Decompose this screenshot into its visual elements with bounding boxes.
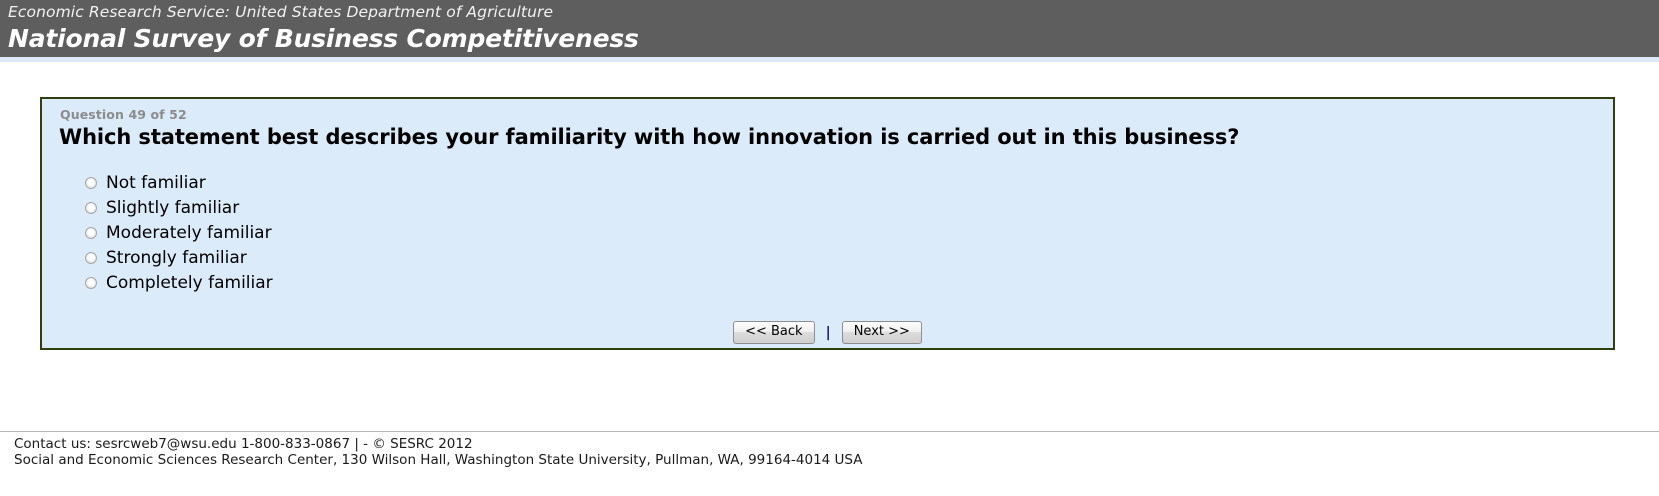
question-panel: Question 49 of 52 Which statement best d… — [40, 97, 1615, 350]
site-header: Economic Research Service: United States… — [0, 0, 1659, 57]
radio-button-icon[interactable] — [85, 252, 97, 264]
page-footer: Contact us: sesrcweb7@wsu.edu 1-800-833-… — [14, 436, 1614, 468]
answer-option-not-familiar[interactable]: Not familiar — [85, 170, 273, 195]
next-button[interactable]: Next >> — [842, 321, 922, 344]
agency-subtitle: Economic Research Service: United States… — [8, 2, 1659, 22]
question-progress-label: Question 49 of 52 — [60, 107, 187, 122]
answer-options-list: Not familiar Slightly familiar Moderatel… — [85, 170, 273, 295]
answer-option-completely-familiar[interactable]: Completely familiar — [85, 270, 273, 295]
answer-option-label: Completely familiar — [106, 273, 273, 293]
nav-separator: | — [826, 326, 831, 340]
answer-option-label: Strongly familiar — [106, 248, 247, 268]
answer-option-moderately-familiar[interactable]: Moderately familiar — [85, 220, 273, 245]
answer-option-label: Not familiar — [106, 173, 206, 193]
back-button[interactable]: << Back — [733, 321, 814, 344]
footer-divider — [0, 431, 1659, 432]
header-accent-strip — [0, 57, 1659, 62]
radio-button-icon[interactable] — [85, 227, 97, 239]
footer-contact-line: Contact us: sesrcweb7@wsu.edu 1-800-833-… — [14, 436, 1614, 452]
radio-button-icon[interactable] — [85, 177, 97, 189]
navigation-bar: << Back | Next >> — [42, 321, 1613, 344]
answer-option-strongly-familiar[interactable]: Strongly familiar — [85, 245, 273, 270]
radio-button-icon[interactable] — [85, 202, 97, 214]
radio-button-icon[interactable] — [85, 277, 97, 289]
survey-title: National Survey of Business Competitiven… — [8, 23, 1659, 55]
answer-option-slightly-familiar[interactable]: Slightly familiar — [85, 195, 273, 220]
answer-option-label: Slightly familiar — [106, 198, 239, 218]
answer-option-label: Moderately familiar — [106, 223, 272, 243]
question-prompt: Which statement best describes your fami… — [59, 125, 1239, 149]
footer-address-line: Social and Economic Sciences Research Ce… — [14, 452, 1614, 468]
